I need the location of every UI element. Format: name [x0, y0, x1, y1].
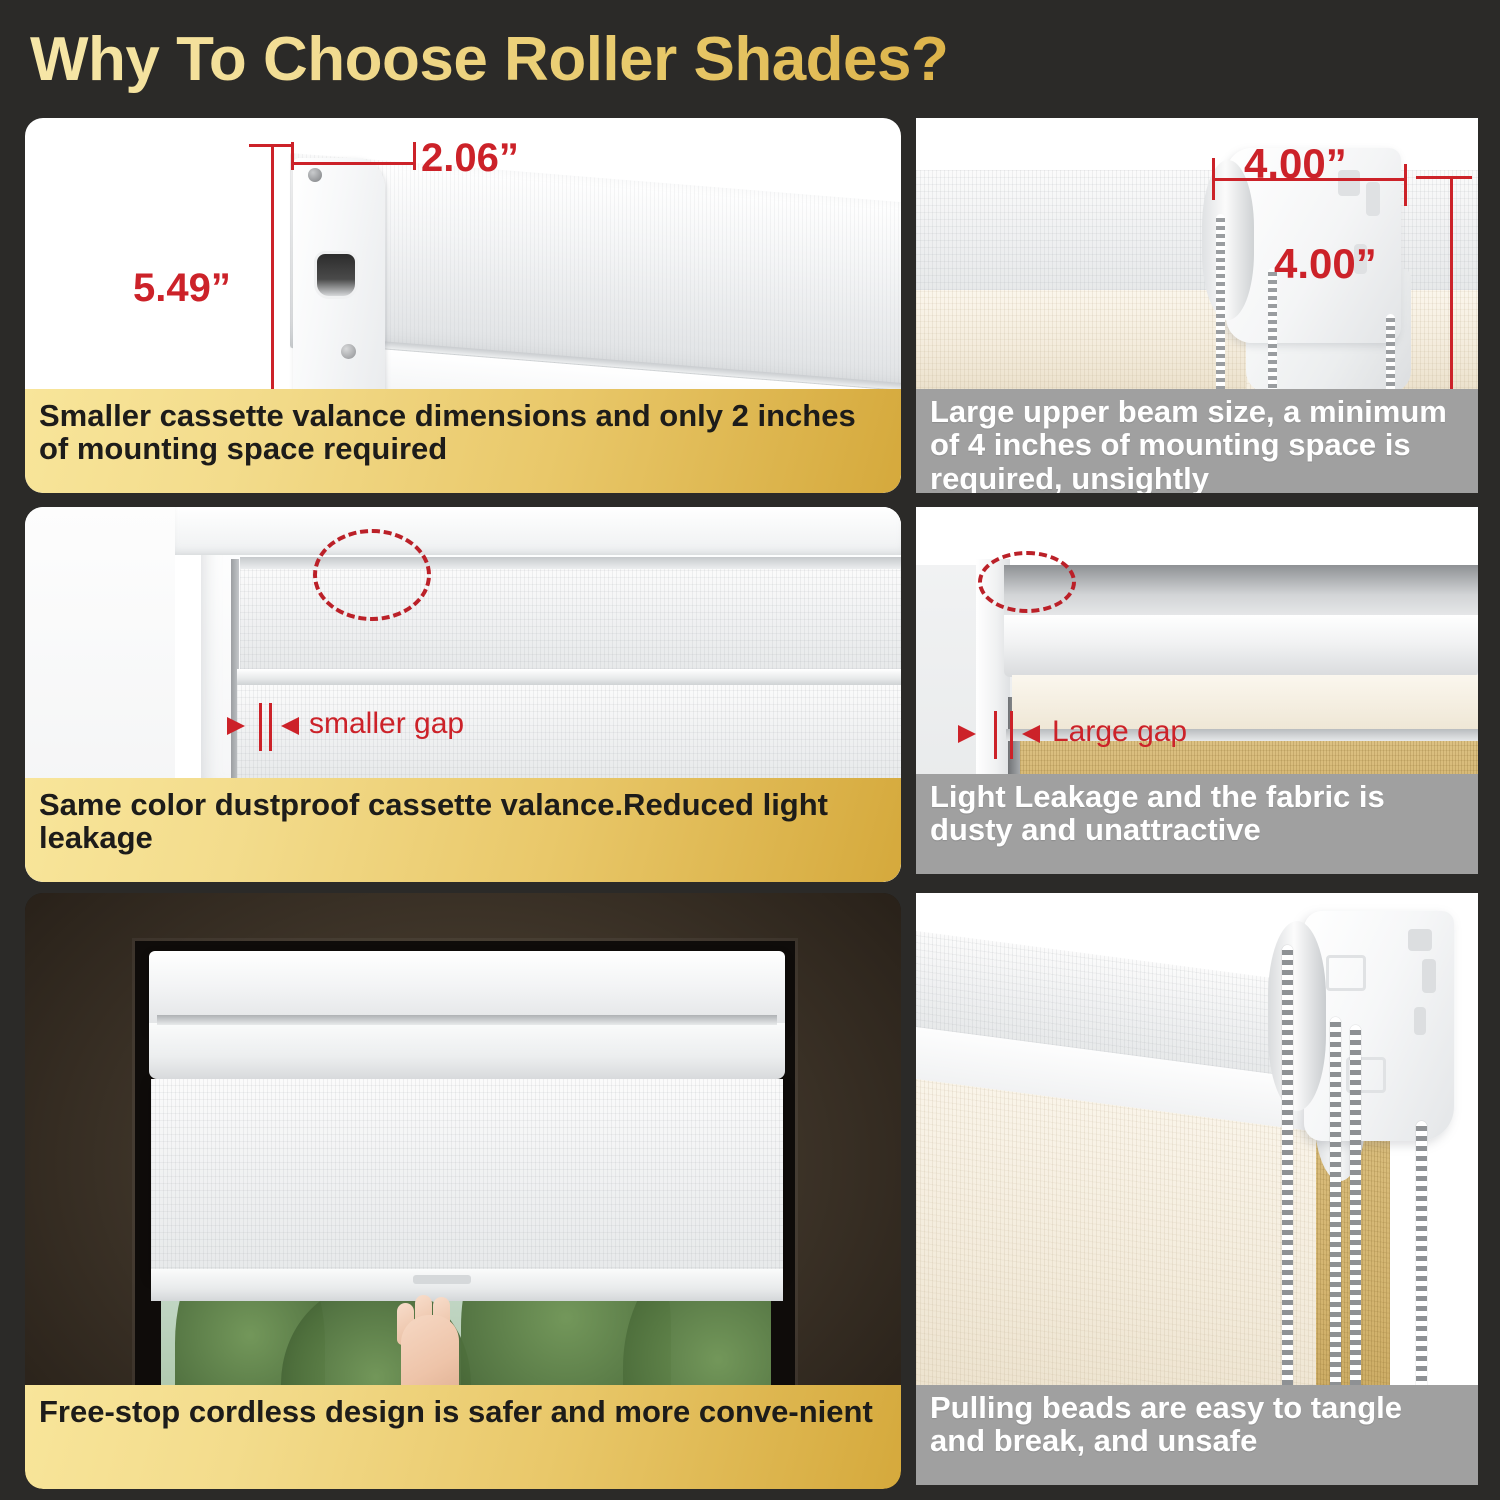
panel-smaller-gap: smaller gap Same color dustproof cassett…: [25, 507, 901, 882]
bracket-notch-a: [1408, 929, 1432, 951]
endcap-screw-top: [308, 168, 322, 182]
gap-arrow-right-icon: [281, 717, 299, 735]
dimension-tick-height-top: [249, 144, 293, 147]
beam-dimension-tick-top: [1416, 176, 1472, 179]
dimension-tick-width-right: [413, 142, 416, 170]
shade-valance-lip: [149, 1023, 785, 1079]
caption-smaller-cassette: Smaller cassette valance dimensions and …: [25, 389, 901, 493]
dimension-label-width: 2.06”: [421, 136, 519, 181]
upper-beam-round: [1004, 615, 1478, 677]
beam-dimension-label-height: 4.00”: [1274, 240, 1377, 288]
dimension-label-height: 5.49”: [133, 266, 231, 311]
bead-chain-inner: [1330, 1017, 1341, 1417]
gap-label-small: smaller gap: [309, 707, 464, 741]
gap-tick-b: [1010, 711, 1013, 759]
highlight-circle-icon: [313, 529, 431, 621]
beam-dimension-tick-left: [1212, 158, 1215, 200]
gap-tick-a: [994, 711, 997, 759]
dimension-line-width: [293, 162, 415, 165]
gap-tick-b: [269, 703, 272, 751]
comparison-grid: 2.06” 5.49” Smaller cassette valance dim…: [0, 108, 1500, 1500]
panel-cordless-design: Free-stop cordless design is safer and m…: [25, 893, 901, 1489]
bracket-notch-c: [1414, 1007, 1426, 1035]
shade-pull-handle: [413, 1275, 471, 1284]
caption-cordless-design: Free-stop cordless design is safer and m…: [25, 1385, 901, 1489]
caption-large-gap: Light Leakage and the fabric is dusty an…: [916, 774, 1478, 874]
bracket-notch-b: [1366, 182, 1380, 216]
page-title: Why To Choose Roller Shades?: [30, 20, 1050, 100]
panel-smaller-cassette: 2.06” 5.49” Smaller cassette valance dim…: [25, 118, 901, 493]
bracket-notch-b: [1422, 959, 1436, 993]
shade-mid-bar: [237, 669, 901, 685]
bead-chain-outer: [1282, 945, 1293, 1415]
roller-cylinder-front: [1268, 921, 1326, 1111]
bracket-embossing-top: [1326, 955, 1366, 991]
beam-dimension-label-width: 4.00”: [1244, 140, 1347, 188]
bead-chain-inner-2: [1350, 1025, 1361, 1417]
bead-chain-drop: [1416, 1121, 1427, 1417]
endcap-slot: [317, 254, 355, 296]
gap-arrow-right-icon: [1022, 725, 1040, 743]
endcap-screw-mid: [341, 344, 356, 359]
shade-valance-slot: [157, 1015, 777, 1025]
gap-arrow-left-icon: [227, 717, 245, 735]
roller-shade-fabric: [151, 1079, 783, 1275]
gap-tick-a: [259, 703, 262, 751]
caption-pulling-beads: Pulling beads are easy to tangle and bre…: [916, 1385, 1478, 1485]
mounting-bracket: [1304, 911, 1454, 1141]
panel-large-gap: Large gap Light Leakage and the fabric i…: [916, 507, 1478, 874]
gap-arrow-left-icon: [958, 725, 976, 743]
caption-large-beam: Large upper beam size, a minimum of 4 in…: [916, 389, 1478, 493]
beam-dimension-tick-right: [1404, 164, 1407, 206]
gap-label-large: Large gap: [1052, 715, 1187, 749]
panel-large-beam: 4.00” 4.00” Large upper beam size, a min…: [916, 118, 1478, 493]
caption-smaller-gap: Same color dustproof cassette valance.Re…: [25, 778, 901, 882]
panel-pulling-beads: Pulling beads are easy to tangle and bre…: [916, 893, 1478, 1485]
window-frame-header: [175, 507, 901, 555]
highlight-circle-icon: [978, 551, 1076, 613]
